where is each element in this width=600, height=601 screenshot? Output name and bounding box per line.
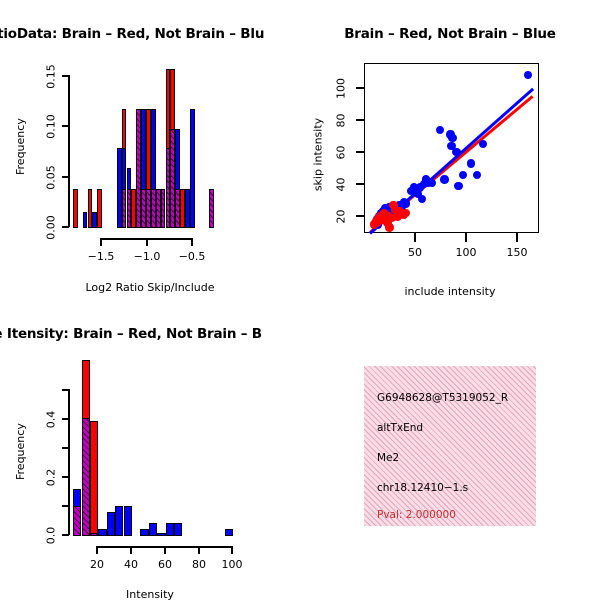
scatter-y-ticklabel-20: 20	[335, 204, 348, 230]
panel-intensity-scatter: Brain – Red, Not Brain – Blue skip inten…	[300, 0, 600, 300]
histogram-bar	[83, 212, 88, 229]
scatter-point	[418, 195, 426, 203]
histogram-bar	[82, 418, 90, 537]
histogram-bar	[190, 109, 195, 228]
histogram-bar	[115, 506, 123, 537]
scatter-y-ticklabel-40: 40	[335, 172, 348, 198]
annotation-clip: G6948628@T5319052_R altTxEnd Me2 chr18.1…	[364, 366, 536, 526]
histogram-bar	[174, 523, 182, 537]
scatter-point	[436, 126, 444, 134]
scatter-point	[440, 175, 448, 183]
scatter-point	[524, 71, 532, 79]
scatter-point	[402, 199, 410, 207]
scatter-point	[402, 209, 410, 217]
scatter-point	[428, 179, 436, 187]
panel-annotation: G6948628@T5319052_R altTxEnd Me2 chr18.1…	[300, 300, 600, 600]
ratio-histogram-bars	[0, 0, 300, 300]
scatter-point	[454, 182, 462, 190]
histogram-bar	[157, 533, 165, 536]
histogram-bar	[149, 523, 157, 537]
histogram-bar	[209, 189, 214, 228]
annotation-line-event-type: altTxEnd	[377, 422, 423, 434]
annotation-line-gene: Me2	[377, 452, 399, 464]
scatter-y-ticklabel-100: 100	[335, 72, 348, 106]
scatter-point	[459, 171, 467, 179]
scatter-point	[479, 140, 487, 148]
scatter-y-tick-60	[356, 151, 365, 153]
scatter-point	[385, 223, 393, 231]
histogram-bar	[107, 512, 115, 536]
histogram-bar	[73, 189, 78, 228]
scatter-y-tick-20	[356, 215, 365, 217]
scatter-x-ticklabel-50: 50	[398, 246, 432, 259]
scatter-x-ticklabel-100: 100	[447, 246, 485, 259]
histogram-bar	[127, 189, 132, 228]
scatter-title: Brain – Red, Not Brain – Blue	[300, 26, 600, 42]
histogram-bar	[92, 212, 97, 229]
scatter-plot-area	[364, 63, 539, 233]
histogram-bar	[124, 506, 132, 537]
scatter-x-axis-label: include intensity	[300, 285, 600, 298]
histogram-bar	[73, 506, 81, 537]
annotation-line-probe: G6948628@T5319052_R	[377, 392, 508, 404]
histogram-bar	[140, 529, 148, 536]
scatter-point	[467, 159, 475, 167]
histogram-bar	[175, 189, 180, 228]
scatter-y-tick-100	[356, 87, 365, 89]
scatter-x-tick-100	[465, 233, 467, 242]
annotation-line-pval: Pval: 2.000000	[377, 509, 456, 521]
annotation-line-locus: chr18.12410−1.s	[377, 482, 468, 494]
scatter-x-tick-50	[414, 233, 416, 242]
scatter-point	[448, 134, 456, 142]
histogram-bar	[90, 421, 98, 536]
histogram-bar	[166, 523, 174, 537]
histogram-bar	[90, 533, 98, 536]
gene-histogram-bars	[0, 300, 300, 600]
scatter-y-ticklabel-80: 80	[335, 108, 348, 134]
panel-gene-intensity-histogram: ne Itensity: Brain – Red, Not Brain – B …	[0, 300, 300, 600]
annotation-box: G6948628@T5319052_R altTxEnd Me2 chr18.1…	[364, 366, 536, 526]
scatter-point	[473, 171, 481, 179]
scatter-x-tick-150	[516, 233, 518, 242]
histogram-bar	[97, 189, 102, 228]
histogram-bar	[98, 529, 106, 536]
scatter-x-ticklabel-150: 150	[498, 246, 536, 259]
panel-ratio-histogram: RatioData: Brain – Red, Not Brain – Blu …	[0, 0, 300, 300]
scatter-y-tick-80	[356, 119, 365, 121]
scatter-y-tick-40	[356, 183, 365, 185]
histogram-bar	[225, 529, 233, 536]
scatter-y-axis-label: skip intensity	[312, 110, 325, 200]
scatter-y-ticklabel-60: 60	[335, 140, 348, 166]
